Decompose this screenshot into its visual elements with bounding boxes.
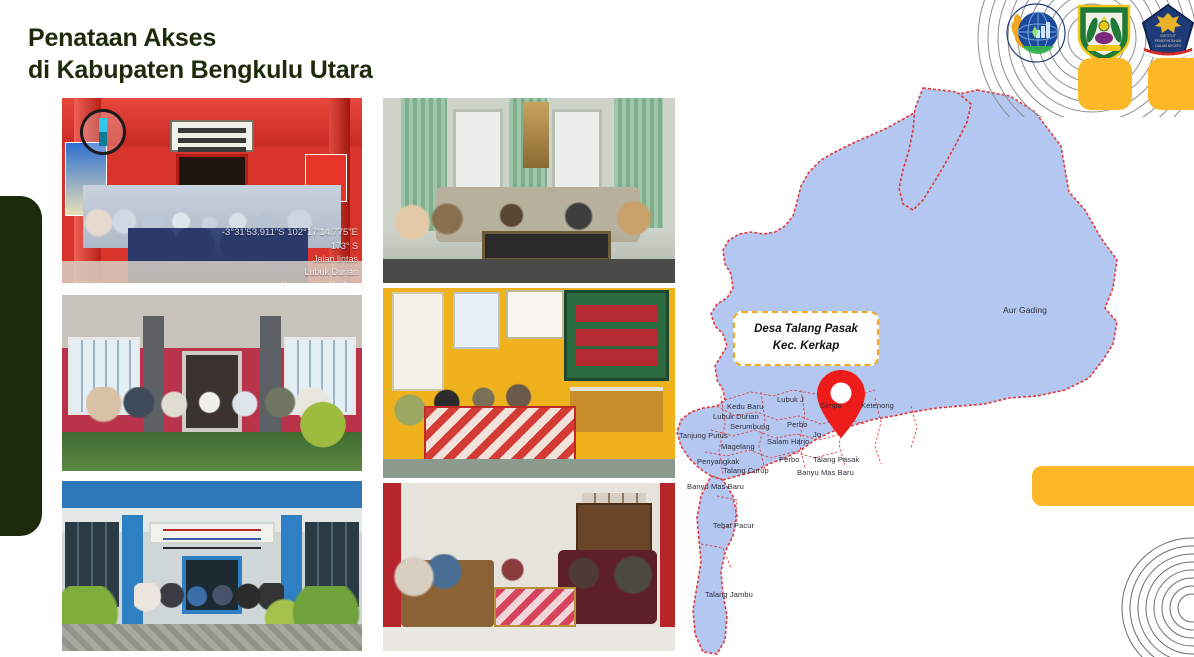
kementerian-atr-bpn-logo (1005, 2, 1067, 64)
photo-4 (383, 288, 675, 478)
map-south-strip (693, 476, 737, 654)
title-line-1: Penataan Akses (28, 22, 548, 54)
photo-1: -3°31'53.911"S 102°17'14.775"E 173° S Ja… (62, 98, 362, 283)
title-line-2: di Kabupaten Bengkulu Utara (28, 54, 548, 86)
map-label: Salam Harjo (767, 437, 809, 446)
map-label: Aur Gading (1003, 305, 1047, 315)
map-label: Talang Curup (723, 466, 769, 475)
page-title: Penataan Akses di Kabupaten Bengkulu Uta… (28, 22, 548, 86)
map-label: Talang Pasak (813, 455, 859, 464)
left-green-accent-bar (0, 196, 42, 536)
yellow-square-1 (1078, 58, 1132, 110)
map-label: Tanjung Putus (679, 431, 728, 440)
photo-6 (383, 483, 675, 651)
map-label: Magelang (721, 442, 755, 451)
compass-overlay-icon (80, 109, 126, 155)
yellow-accent-bar (1032, 466, 1194, 506)
svg-text:PEMERINTAHAN: PEMERINTAHAN (1155, 39, 1182, 43)
map-label: Kedu Baru (727, 402, 763, 411)
map-label: Banyu Mas Baru (687, 482, 744, 491)
map-label: Talang Jambu (705, 590, 753, 599)
map-label: Tebat Pacur (713, 521, 754, 530)
photo-3 (62, 295, 362, 471)
callout-line-1: Desa Talang Pasak (741, 321, 871, 338)
photo-2 (383, 98, 675, 283)
callout-desa-talang-pasak: Desa Talang Pasak Kec. Kerkap (733, 311, 879, 366)
map-label: Lubuk Durian (713, 412, 759, 421)
svg-text:DALAM NEGERI: DALAM NEGERI (1155, 44, 1181, 48)
yellow-square-2 (1148, 58, 1194, 110)
map-label: Perbo (787, 420, 808, 429)
village-office-signboard (170, 120, 254, 151)
map-label: Serumbung (730, 422, 770, 431)
map-label: Lubuk J (777, 395, 804, 404)
map-label: Jo (813, 430, 821, 439)
bottom-right-arc-decoration (1112, 528, 1194, 657)
kabupaten-bengkulu-utara-logo (1075, 2, 1133, 64)
presentation-slide: Penataan Akses di Kabupaten Bengkulu Uta… (0, 0, 1194, 657)
map-label: Penyangkak (697, 457, 739, 466)
map-label: Simpa (820, 401, 842, 410)
ipdn-logo: INSTITUT PEMERINTAHAN DALAM NEGERI (1140, 2, 1194, 64)
map-label: Ketenong (861, 401, 894, 410)
map-label: Banyu Mas Baru (797, 468, 854, 477)
callout-line-2: Kec. Kerkap (741, 338, 871, 355)
map-label: Perbo (779, 455, 800, 464)
photo-5 (62, 481, 362, 651)
svg-text:INSTITUT: INSTITUT (1160, 34, 1175, 38)
